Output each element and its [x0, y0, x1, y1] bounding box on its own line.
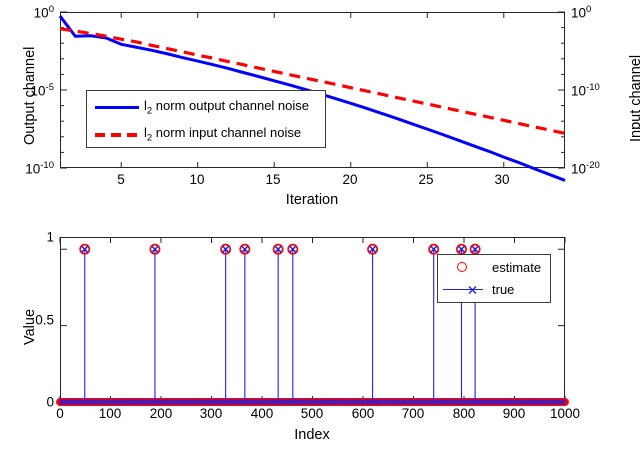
ytick-label-top-right-2: 10-20: [571, 160, 600, 177]
xtick-label-bot-400: 400: [251, 406, 274, 421]
legend-label-output-noise-post: norm output channel noise: [152, 98, 309, 113]
ytick-label-top-right-0: 100: [571, 4, 591, 21]
ytick-label-top-right-1: 10-10: [571, 82, 600, 99]
xtick-label-top-15: 15: [265, 172, 280, 187]
yaxis-label-input-channel: Input channel: [628, 55, 640, 142]
ytick-label-bot-0: 0: [10, 395, 54, 410]
xtick-label-bot-1000: 1000: [550, 406, 580, 421]
xtick-label-bot-700: 700: [402, 406, 425, 421]
yaxis-label-output-channel: Output channel: [22, 47, 38, 145]
legend-entry-estimate: estimate: [443, 260, 541, 275]
legend-label-input-noise-post: norm input channel noise: [152, 125, 301, 140]
xtick-label-top-30: 30: [494, 172, 509, 187]
xtick-label-bot-600: 600: [352, 406, 375, 421]
xtick-label-bot-300: 300: [200, 406, 223, 421]
legend-label-estimate: estimate: [492, 260, 541, 275]
xtick-label-bot-200: 200: [150, 406, 173, 421]
convergence-legend: l2 norm output channel noise l2 norm inp…: [86, 90, 326, 148]
legend-label-output-noise: l2 norm output channel noise: [144, 98, 309, 117]
sparse-recovery-legend: estimate true: [437, 254, 551, 303]
legend-label-input-noise: l2 norm input channel noise: [144, 125, 301, 144]
legend-sample-solid-blue-line: [95, 100, 139, 114]
xtick-label-bot-800: 800: [453, 406, 476, 421]
yaxis-label-value: Value: [22, 309, 38, 345]
xaxis-label-iteration: Iteration: [286, 192, 338, 208]
xtick-label-top-10: 10: [189, 172, 204, 187]
legend-entry-output-noise: l2 norm output channel noise: [95, 98, 309, 117]
xtick-label-top-5: 5: [117, 172, 125, 187]
figure-canvas: 100 10-5 10-10 100 10-10 10-20 5 10 15 2…: [0, 0, 640, 453]
xtick-label-bot-100: 100: [99, 406, 122, 421]
legend-entry-true: true: [443, 282, 514, 297]
ytick-label-top-2: 10-10: [0, 160, 54, 177]
ytick-label-top-0: 100: [8, 4, 54, 21]
legend-sample-dashed-red-line: [95, 127, 139, 141]
legend-sample-blue-line-x-marker: [443, 283, 487, 297]
xtick-label-bot-0: 0: [56, 406, 64, 421]
xtick-label-bot-900: 900: [503, 406, 526, 421]
xaxis-label-index: Index: [294, 427, 329, 443]
xtick-label-top-25: 25: [418, 172, 433, 187]
legend-entry-input-noise: l2 norm input channel noise: [95, 125, 301, 144]
xtick-label-top-20: 20: [342, 172, 357, 187]
ytick-label-bot-1: 1: [10, 230, 54, 245]
legend-sample-red-circle-marker: [443, 261, 487, 275]
xtick-label-bot-500: 500: [301, 406, 324, 421]
legend-label-true: true: [492, 282, 514, 297]
